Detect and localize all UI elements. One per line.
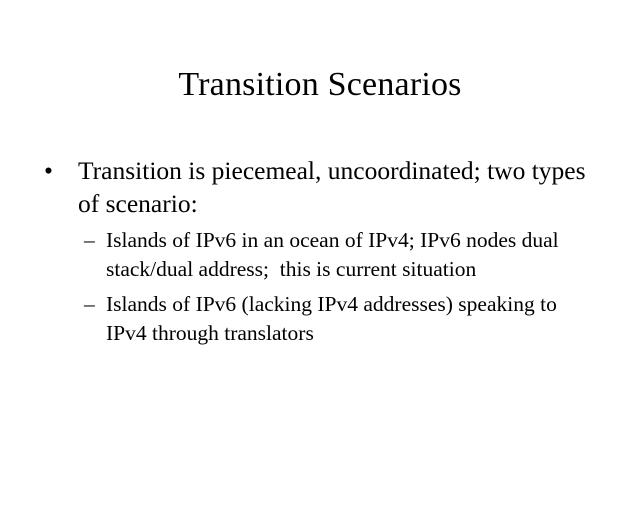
bullet-level1: • Transition is piecemeal, uncoordinated…	[40, 154, 600, 220]
bullet-level2: – Islands of IPv6 in an ocean of IPv4; I…	[40, 226, 600, 284]
slide-body: • Transition is piecemeal, uncoordinated…	[40, 154, 600, 354]
bullet-level1-text: Transition is piecemeal, uncoordinated; …	[78, 154, 600, 220]
bullet-level2-text: Islands of IPv6 (lacking IPv4 addresses)…	[106, 290, 600, 348]
slide-title: Transition Scenarios	[0, 64, 640, 106]
bullet-dot-icon: •	[44, 154, 53, 187]
bullet-level2: – Islands of IPv6 (lacking IPv4 addresse…	[40, 290, 600, 348]
bullet-level2-text: Islands of IPv6 in an ocean of IPv4; IPv…	[106, 226, 600, 284]
bullet-dash-icon: –	[84, 290, 95, 319]
bullet-dash-icon: –	[84, 226, 95, 255]
sub-bullet-list: – Islands of IPv6 in an ocean of IPv4; I…	[40, 226, 600, 348]
presentation-slide: Transition Scenarios • Transition is pie…	[0, 0, 640, 512]
